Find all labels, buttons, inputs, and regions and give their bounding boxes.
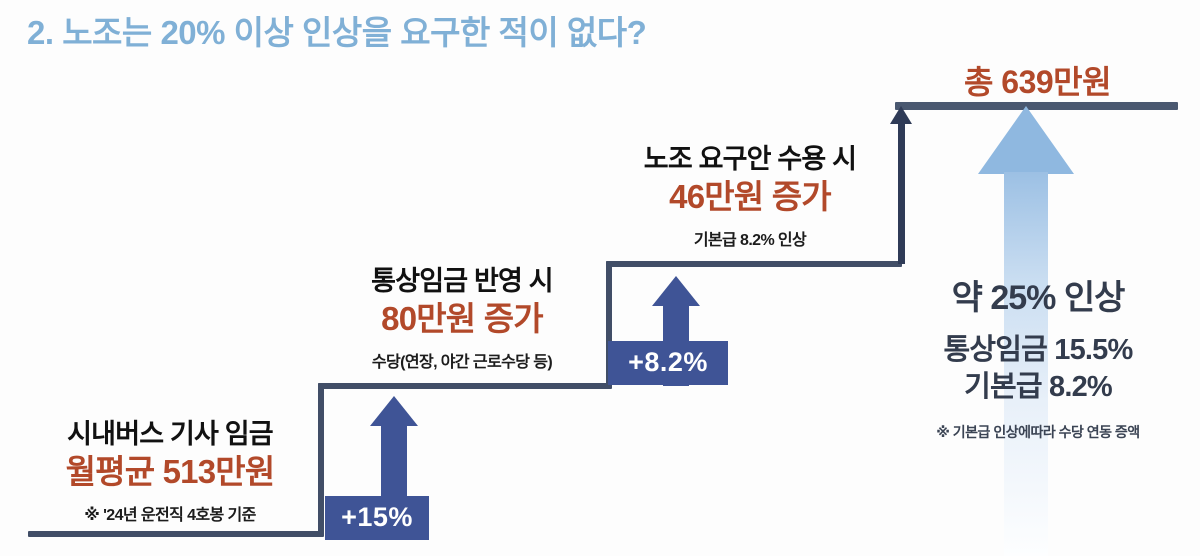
summary-panel: 약 25% 인상 통상임금 15.5% 기본급 8.2% ※ 기본급 인상에따라… — [888, 278, 1188, 442]
step-note-union-demand: 기본급 8.2% 인상 — [600, 226, 900, 250]
increase-arrow-8-2-head — [652, 276, 700, 306]
increase-arrow-15-head — [370, 396, 418, 426]
step-note-base-wage: ※ '24년 운전직 4호봉 기준 — [20, 501, 320, 525]
stair-tread-3 — [606, 261, 902, 267]
summary-main-increase: 약 25% 인상 — [888, 278, 1188, 319]
step-block-union-demand: 노조 요구안 수용 시 46만원 증가 기본급 8.2% 인상 — [600, 143, 900, 250]
total-growth-arrow-head — [978, 106, 1074, 174]
summary-footnote: ※ 기본급 인상에따라 수당 연동 증액 — [888, 422, 1188, 442]
total-riser-arrowhead — [890, 106, 912, 124]
step-headline-ordinary-wage: 통상임금 반영 시 — [312, 265, 612, 298]
step-headline-union-demand: 노조 요구안 수용 시 — [600, 143, 900, 176]
stair-tread-2 — [318, 383, 612, 389]
page-title: 2. 노조는 20% 이상 인상을 요구한 적이 없다? — [27, 6, 646, 54]
total-amount-label: 총 639만원 — [895, 57, 1180, 103]
step-amount-ordinary-wage: 80만원 증가 — [312, 299, 612, 339]
step-headline-base-wage: 시내버스 기사 임금 — [20, 418, 320, 451]
badge-increase-15: +15% — [325, 496, 429, 540]
step-amount-union-demand: 46만원 증가 — [600, 177, 900, 217]
infographic-canvas: 2. 노조는 20% 이상 인상을 요구한 적이 없다? +15% +8.2% … — [0, 0, 1200, 556]
step-amount-base-wage: 월평균 513만원 — [20, 452, 320, 492]
summary-base-pay-pct: 기본급 8.2% — [888, 369, 1188, 406]
step-note-ordinary-wage: 수당(연장, 야간 근로수당 등) — [312, 348, 612, 372]
stair-tread-1 — [28, 531, 324, 537]
badge-increase-8-2: +8.2% — [608, 341, 728, 385]
summary-ordinary-wage-pct: 통상임금 15.5% — [888, 332, 1188, 369]
step-block-base-wage: 시내버스 기사 임금 월평균 513만원 ※ '24년 운전직 4호봉 기준 — [20, 418, 320, 525]
step-block-ordinary-wage: 통상임금 반영 시 80만원 증가 수당(연장, 야간 근로수당 등) — [312, 265, 612, 372]
